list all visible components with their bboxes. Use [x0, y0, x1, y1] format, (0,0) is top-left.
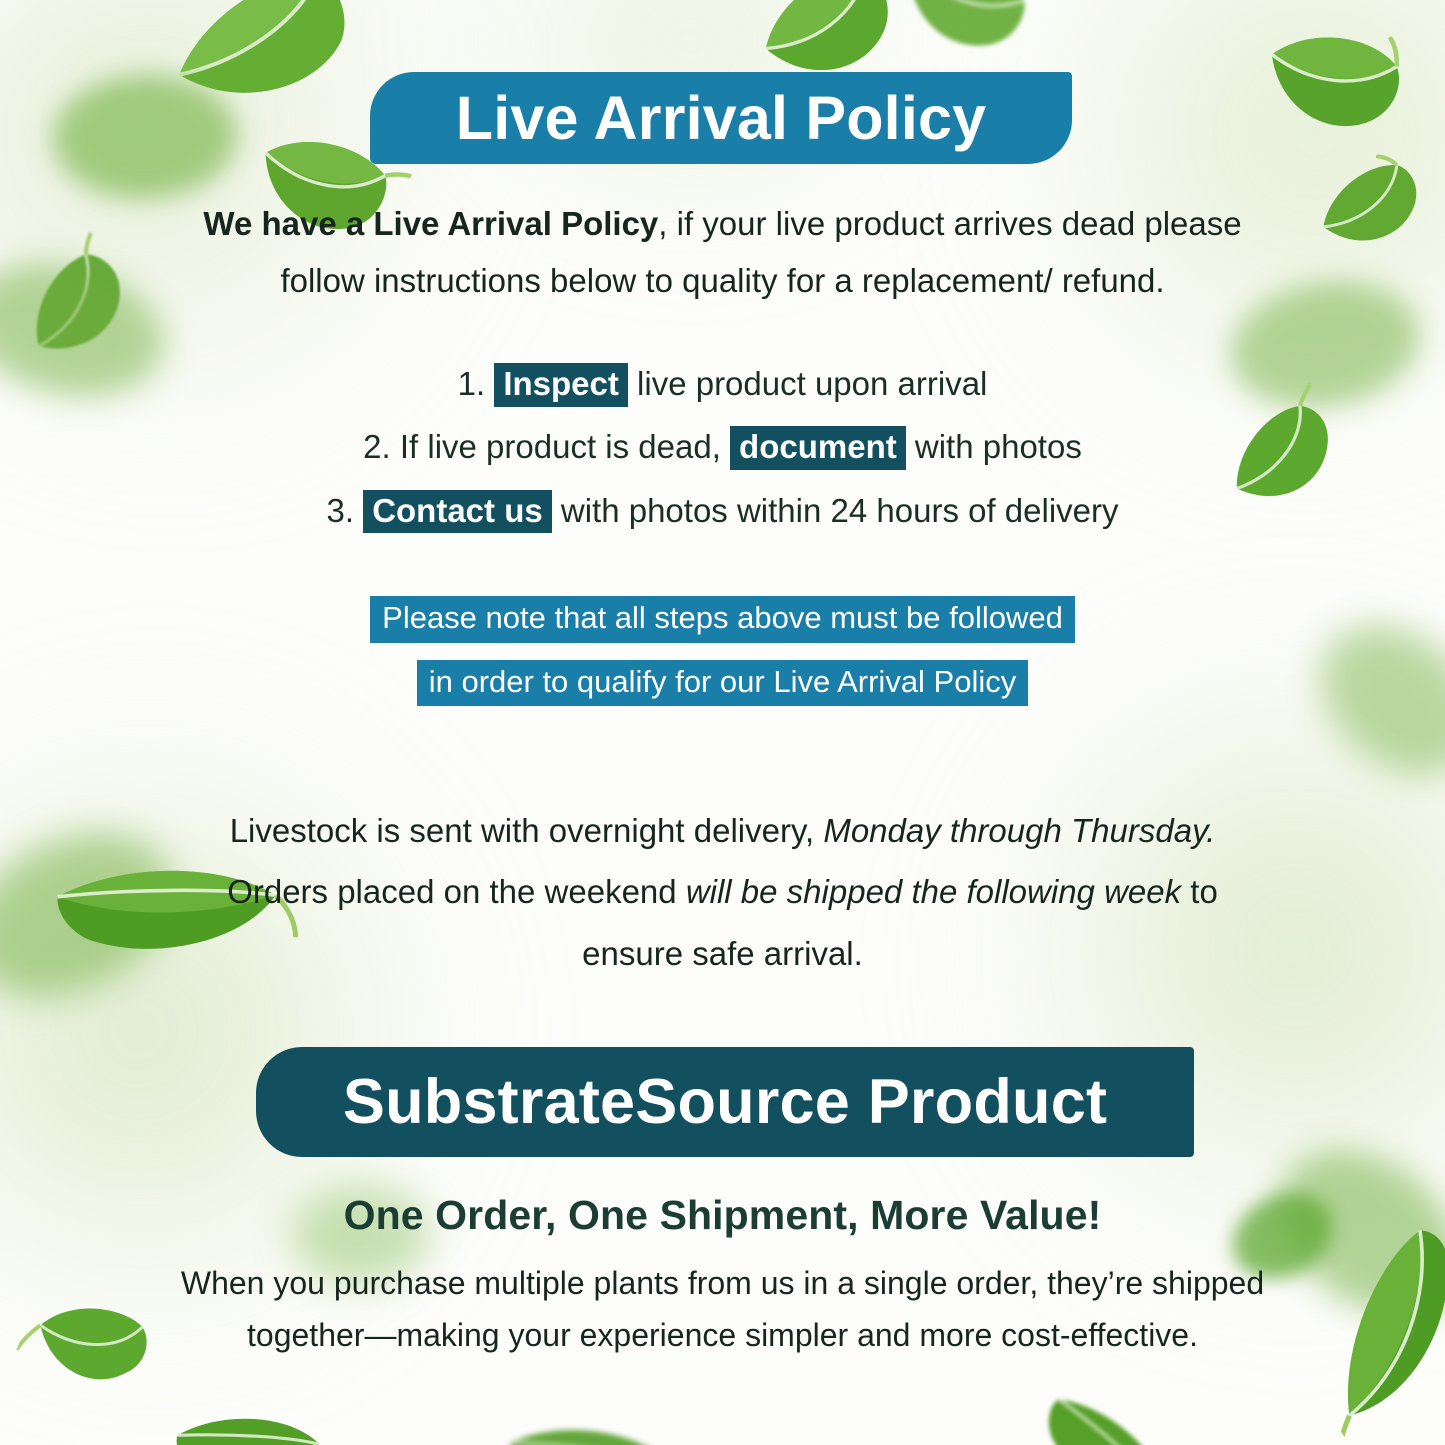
policy-note-row-2: in order to qualify for our Live Arrival…: [0, 650, 1445, 714]
shipping-line-1-italic: Monday through Thursday.: [823, 812, 1215, 849]
step-text: live product upon arrival: [637, 365, 987, 402]
policy-intro-bold: We have a Live Arrival Policy: [203, 205, 658, 242]
live-arrival-policy-banner: Live Arrival Policy: [370, 72, 1072, 164]
step-highlight-inspect: Inspect: [494, 363, 628, 407]
product-subheading: One Order, One Shipment, More Value!: [0, 1192, 1445, 1239]
step-text: with photos: [915, 428, 1082, 465]
policy-step-3: 3. Contact us with photos within 24 hour…: [0, 479, 1445, 542]
policy-steps-list: 1. Inspect live product upon arrival 2. …: [0, 352, 1445, 542]
policy-note-block: Please note that all steps above must be…: [0, 586, 1445, 713]
substratesource-product-banner: SubstrateSource Product: [256, 1047, 1194, 1157]
step-number: 1.: [458, 365, 486, 402]
shipping-schedule-paragraph: Livestock is sent with overnight deliver…: [0, 800, 1445, 984]
step-text: with photos within 24 hours of delivery: [561, 492, 1119, 529]
step-highlight-document: document: [730, 426, 906, 470]
step-number: 3.: [326, 492, 354, 529]
step-number: 2.: [363, 428, 391, 465]
policy-step-1: 1. Inspect live product upon arrival: [0, 352, 1445, 415]
page-content: Live Arrival Policy We have a Live Arriv…: [0, 0, 1445, 1445]
shipping-line-2-italic: will be shipped the following week: [686, 873, 1181, 910]
live-arrival-policy-title: Live Arrival Policy: [456, 83, 986, 153]
policy-step-2: 2. If live product is dead, document wit…: [0, 415, 1445, 478]
step-highlight-contact-us[interactable]: Contact us: [363, 490, 552, 534]
policy-intro-paragraph: We have a Live Arrival Policy, if your l…: [0, 196, 1445, 310]
substratesource-product-title: SubstrateSource Product: [343, 1066, 1107, 1138]
shipping-line-1-plain: Livestock is sent with overnight deliver…: [230, 812, 814, 849]
policy-note-row-1: Please note that all steps above must be…: [0, 586, 1445, 650]
policy-note-line-2: in order to qualify for our Live Arrival…: [417, 660, 1029, 707]
step-text-before: If live product is dead,: [400, 428, 721, 465]
policy-note-line-1: Please note that all steps above must be…: [370, 596, 1075, 643]
product-body-paragraph: When you purchase multiple plants from u…: [0, 1258, 1445, 1362]
shipping-line-2-plain: Orders placed on the weekend: [227, 873, 676, 910]
